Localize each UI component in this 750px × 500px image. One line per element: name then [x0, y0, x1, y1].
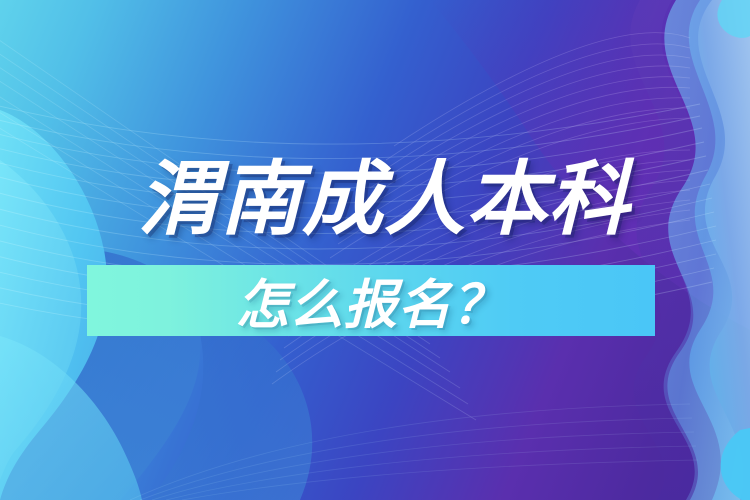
- promo-banner: 渭南成人本科 怎么报名？: [0, 0, 750, 500]
- banner-subtitle: 怎么报名？: [87, 265, 655, 336]
- radial-line-fan: [0, 0, 750, 500]
- banner-title: 渭南成人本科: [138, 152, 630, 248]
